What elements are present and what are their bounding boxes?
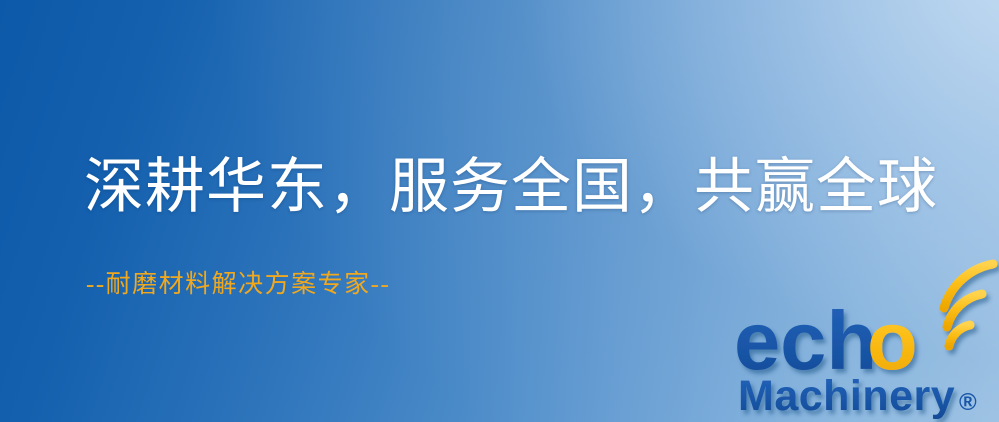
page-subtitle: --耐磨材料解决方案专家-- xyxy=(86,268,390,302)
hero-banner: 深耕华东，服务全国，共赢全球 --耐磨材料解决方案专家-- xyxy=(0,0,999,422)
signal-arcs-icon xyxy=(944,264,993,346)
logo-text-machinery: Machinery xyxy=(738,372,955,420)
company-logo[interactable]: ech o Machinery ® xyxy=(736,296,994,418)
registered-trademark-icon: ® xyxy=(959,389,977,416)
page-title: 深耕华东，服务全国，共赢全球 xyxy=(84,150,938,224)
